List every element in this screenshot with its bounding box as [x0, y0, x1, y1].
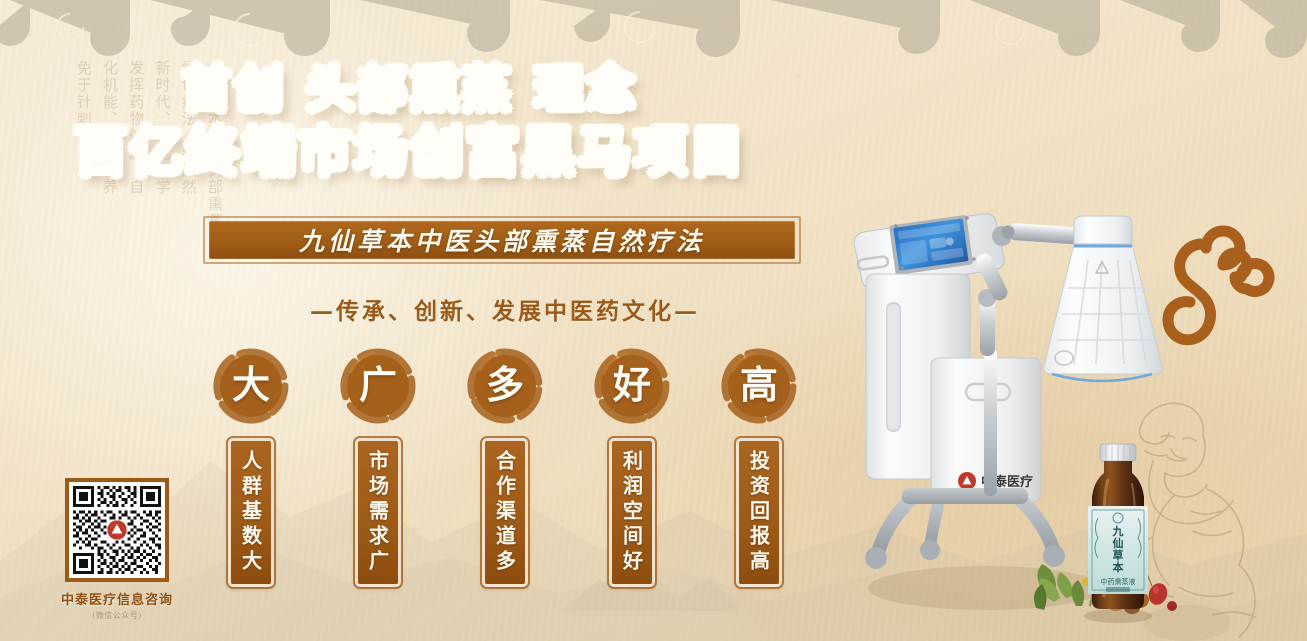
therapy-plaque: 九仙草本中医头部熏蒸自然疗法	[203, 216, 801, 264]
qr-code-icon	[73, 486, 161, 574]
feature-label-text: 市场需求广	[364, 450, 393, 575]
plaque-inner: 九仙草本中医头部熏蒸自然疗法	[209, 221, 795, 259]
feature-label-text: 投资回报高	[745, 450, 774, 575]
badge-character: 好	[613, 366, 651, 404]
herbal-liquid-bottle: 九 仙 草 本 中药熏蒸液	[1062, 440, 1174, 625]
feature-item[interactable]: 好 利润空间好	[586, 346, 678, 596]
plaque-outer-border	[203, 216, 801, 264]
brush-circle-badge: 多	[466, 346, 544, 424]
feature-item[interactable]: 高 投资回报高	[713, 346, 805, 596]
feature-label-box: 利润空间好	[609, 438, 655, 587]
feature-label-box: 合作渠道多	[482, 438, 528, 587]
svg-text:中药熏蒸液: 中药熏蒸液	[1101, 577, 1136, 586]
badge-character: 高	[740, 366, 778, 404]
plaque-label: 九仙草本中医头部熏蒸自然疗法	[299, 222, 705, 258]
badge-character: 广	[359, 366, 397, 404]
headline-line-2: 百亿终端市场创富黑马项目	[0, 123, 820, 182]
svg-text:草: 草	[1113, 548, 1124, 562]
brush-circle-badge: 好	[593, 346, 671, 424]
feature-item[interactable]: 多 合作渠道多	[459, 346, 551, 596]
brush-circle-badge: 大	[212, 346, 290, 424]
feature-label-box: 人群基数大	[228, 438, 274, 587]
brush-circle-badge: 高	[720, 346, 798, 424]
svg-text:本: 本	[1113, 560, 1124, 574]
feature-label-box: 市场需求广	[355, 438, 401, 587]
feature-badge-row: 大 人群基数大 广 市场需求广	[205, 346, 805, 596]
feature-item[interactable]: 大 人群基数大	[205, 346, 297, 596]
qr-sub-caption: (微信公众号)	[57, 610, 177, 621]
feature-label-text: 合作渠道多	[491, 450, 520, 575]
feature-item[interactable]: 广 市场需求广	[332, 346, 424, 596]
calligraphy-column: 绿色疗法、纯天然	[180, 60, 197, 560]
qr-code-frame[interactable]	[65, 478, 169, 582]
badge-character: 多	[486, 366, 524, 404]
promo-banner: 九仙草本中医头部熏蒸 绿色疗法、纯天然 新时代、智能国学 发挥药物效应、自 化机…	[0, 0, 1307, 641]
feature-label-text: 利润空间好	[618, 450, 647, 575]
headline-line-1: 首创 头部熏蒸 理念	[0, 62, 820, 117]
svg-text:九: 九	[1112, 524, 1124, 538]
badge-character: 大	[232, 366, 270, 404]
cloud-motif-band	[0, 0, 1307, 78]
qr-caption: 中泰医疗信息咨询	[57, 589, 177, 608]
qr-code-block[interactable]: 中泰医疗信息咨询 (微信公众号)	[57, 478, 177, 621]
headline-block: 首创 头部熏蒸 理念 百亿终端市场创富黑马项目	[0, 62, 820, 182]
feature-label-box: 投资回报高	[736, 438, 782, 587]
svg-text:仙: 仙	[1113, 536, 1124, 550]
ruyi-cloud-ornament	[1148, 208, 1298, 368]
brush-circle-badge: 广	[339, 346, 417, 424]
feature-label-text: 人群基数大	[237, 450, 266, 575]
bottle-illustration: 九 仙 草 本 中药熏蒸液	[1062, 440, 1174, 625]
